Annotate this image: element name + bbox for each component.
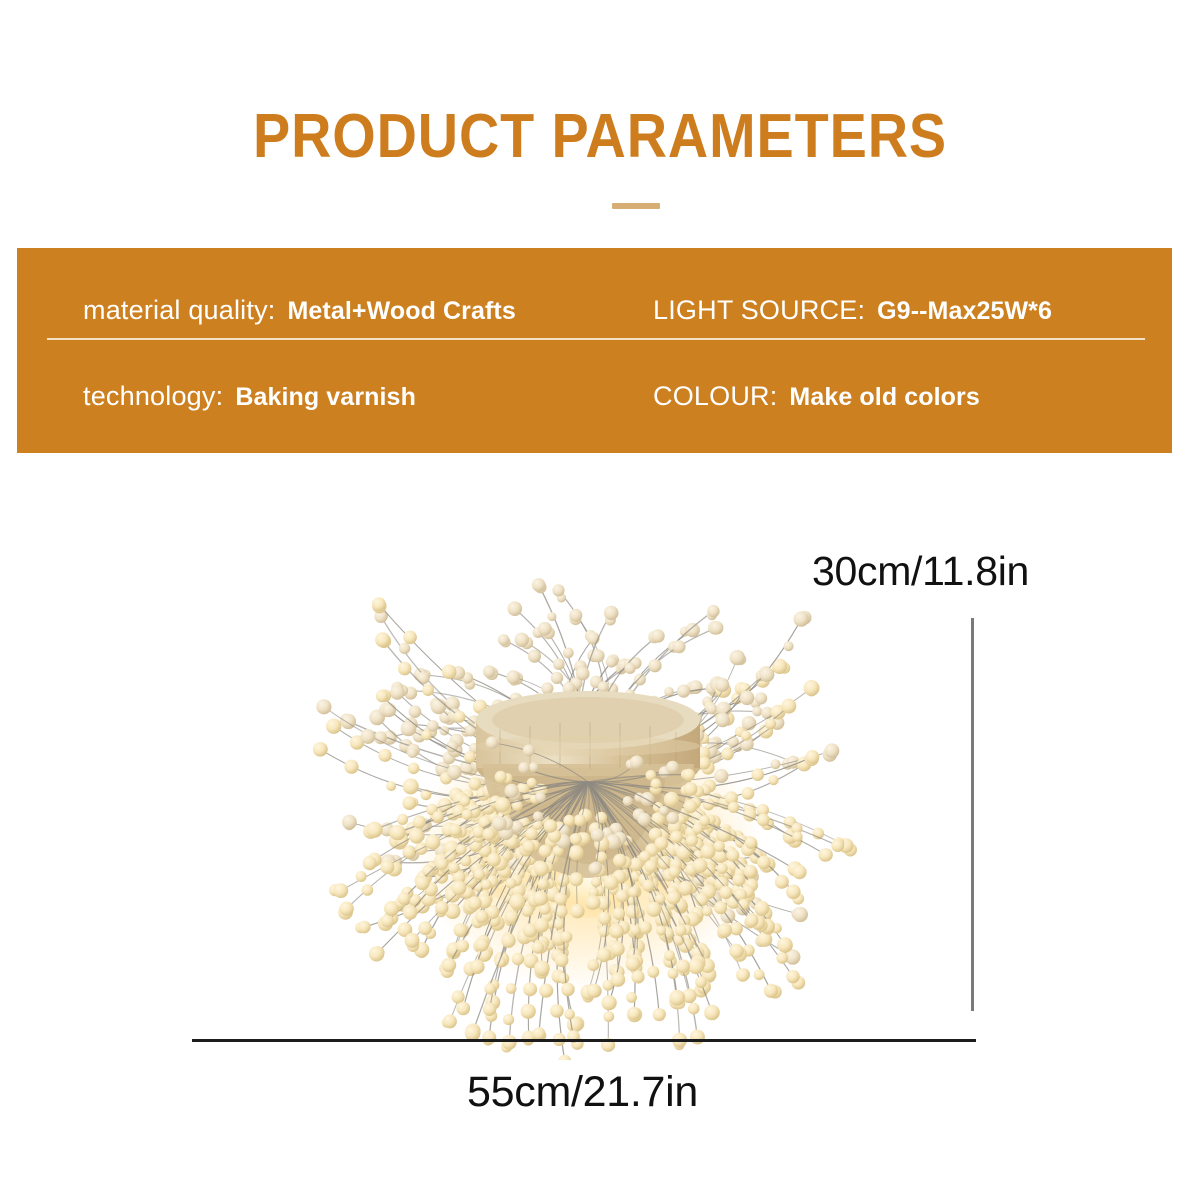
spec-row: technology: Baking varnish COLOUR: Make … (17, 354, 1172, 438)
spec-label-colour: COLOUR: (653, 381, 777, 412)
spec-label-technology: technology: (83, 381, 223, 412)
height-dimension-label: 30cm/11.8in (812, 548, 1029, 595)
product-parameters-panel: material quality: Metal+Wood Crafts LIGH… (17, 248, 1172, 453)
width-dimension-label: 55cm/21.7in (0, 1068, 1165, 1117)
spec-cell-technology: technology: Baking varnish (17, 381, 645, 412)
page-title: PRODUCT PARAMETERS (60, 104, 1140, 169)
spec-value-technology: Baking varnish (235, 383, 416, 412)
spec-cell-light-source: LIGHT SOURCE: G9--Max25W*6 (645, 295, 1165, 326)
spec-value-colour: Make old colors (789, 383, 979, 412)
spec-row-divider (47, 338, 1145, 340)
spec-label-material-quality: material quality: (83, 295, 275, 326)
title-divider (612, 203, 660, 209)
beaded-wire-sprays-front (363, 736, 833, 1049)
height-dimension-line (971, 618, 974, 1011)
spec-cell-material-quality: material quality: Metal+Wood Crafts (17, 295, 645, 326)
width-dimension-line (192, 1039, 976, 1042)
spec-cell-colour: COLOUR: Make old colors (645, 381, 1165, 412)
product-image-chandelier (190, 520, 990, 1060)
spec-value-light-source: G9--Max25W*6 (877, 297, 1052, 326)
spec-value-material-quality: Metal+Wood Crafts (287, 297, 515, 326)
spec-label-light-source: LIGHT SOURCE: (653, 295, 865, 326)
